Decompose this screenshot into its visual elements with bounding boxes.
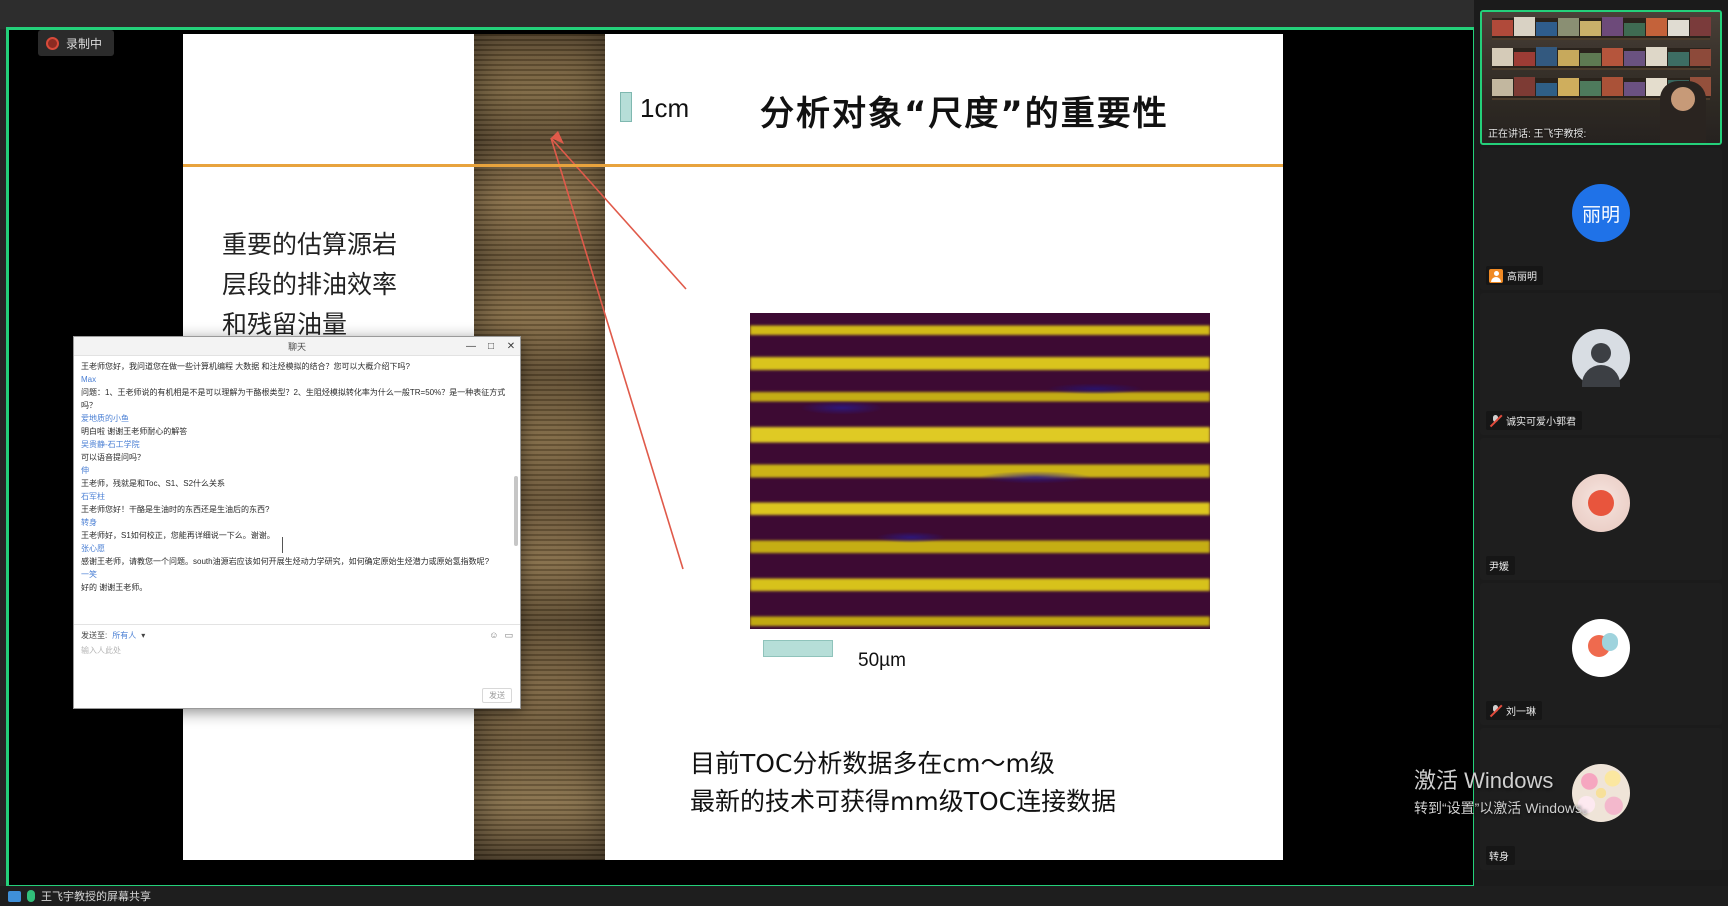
chat-message-sender: Max (81, 373, 513, 386)
participant-name: 转身 (1489, 848, 1509, 863)
send-to-dropdown[interactable]: 所有人 (112, 630, 136, 641)
chat-message-text: 可以语音提问吗？ (81, 451, 513, 464)
participant-name: 诚实可爱小郭君 (1506, 413, 1576, 428)
mic-muted-icon (1489, 414, 1502, 427)
status-bar-text: 王飞宇教授的屏幕共享 (41, 888, 151, 904)
avatar (1572, 474, 1630, 532)
participant-name-badge: 高丽明 (1486, 266, 1543, 285)
chat-message-sender: 石军柱 (81, 490, 513, 503)
slide-bottom-line-1: 目前TOC分析数据多在cm～m级 (690, 745, 1116, 783)
chat-message-text: 问题：1、王老师说的有机相是不是可以理解为干酪根类型？2、生阻烃模拟转化率为什么… (81, 386, 513, 412)
cm-scale-label: 1cm (640, 93, 689, 124)
presenter-figure (1660, 81, 1706, 143)
minimize-icon[interactable]: — (465, 341, 477, 353)
slide-left-line-1: 重要的估算源岩 (222, 225, 472, 265)
send-to-label: 发送至: (81, 630, 107, 641)
avatar (1572, 764, 1630, 822)
participant-name-badge: 尹媛 (1486, 556, 1515, 575)
chat-window[interactable]: 聊天 — □ ✕ 王老师您好，我问道您在做一些计算机编程 大数据 和注烃模拟的结… (73, 336, 521, 709)
participant-name: 刘一琳 (1506, 703, 1536, 718)
avatar (1572, 619, 1630, 677)
text-cursor (282, 537, 283, 553)
chat-message-list[interactable]: 王老师您好，我问道您在做一些计算机编程 大数据 和注烃模拟的结合？您可以大概介绍… (74, 356, 520, 624)
active-speaker-label: 正在讲话: 王飞宇教授: (1488, 125, 1586, 140)
recording-dot-icon (46, 37, 59, 50)
microscopy-image (750, 313, 1210, 629)
chat-message-sender: 一笑 (81, 568, 513, 581)
chat-window-controls[interactable]: — □ ✕ (465, 337, 517, 356)
chat-message-text: 明白啦 谢谢王老师耐心的解答 (81, 425, 513, 438)
participant-tile[interactable]: 诚实可爱小郭君 (1480, 293, 1722, 435)
active-speaker-tile[interactable]: 正在讲话: 王飞宇教授: (1480, 10, 1722, 145)
file-icon[interactable]: ▭ (504, 630, 513, 641)
chat-titlebar[interactable]: 聊天 — □ ✕ (74, 337, 520, 356)
chat-message-text: 好的 谢谢王老师。 (81, 581, 513, 594)
participant-tile[interactable]: 丽明 高丽明 (1480, 148, 1722, 290)
cm-scale-chip (620, 92, 632, 122)
chat-message-text: 感谢王老师，请教您一个问题。south油源岩应该如何开展生烃动力学研究，如何确定… (81, 555, 513, 568)
chat-message-sender: 转身 (81, 516, 513, 529)
chat-message-sender: 张心愿 (81, 542, 513, 555)
bookshelf-decor (1492, 48, 1711, 66)
status-bar: 王飞宇教授的屏幕共享 (0, 886, 1728, 906)
chat-message-sender: 爱地质的小鱼 (81, 412, 513, 425)
chat-scrollbar[interactable] (514, 476, 518, 546)
participant-tile[interactable]: 转身 (1480, 728, 1722, 870)
app-root: 1cm 分析对象“尺度”的重要性 重要的估算源岩 层段的排油效率 和残留油量 5… (0, 0, 1728, 906)
left-chrome-bar (0, 29, 8, 886)
slide-bottom-line-2: 最新的技术可获得mm级TOC连接数据 (690, 783, 1116, 821)
chat-message-text: 王老师好，S1如何校正，您能再详细说一下么。谢谢。 (81, 529, 513, 542)
chat-compose-area[interactable]: 发送至: 所有人 ▾ ☺ ▭ 输入人此处 发送 (74, 624, 520, 708)
chat-compose-icons[interactable]: ☺ ▭ (489, 630, 513, 641)
bookshelf-decor (1492, 18, 1711, 36)
recording-indicator: 录制中 (38, 30, 114, 56)
screen-share-icon (8, 891, 21, 902)
chat-message-sender: 吴贵静-石工学院 (81, 438, 513, 451)
participant-name-badge: 转身 (1486, 846, 1515, 865)
participant-name-badge: 诚实可爱小郭君 (1486, 411, 1582, 430)
slide-left-text: 重要的估算源岩 层段的排油效率 和残留油量 (222, 225, 472, 345)
chat-input[interactable]: 输入人此处 (81, 645, 513, 703)
top-chrome-bar (0, 0, 1474, 29)
slide-title: 分析对象“尺度”的重要性 (760, 86, 1169, 135)
recording-label: 录制中 (66, 35, 102, 52)
person-icon (1489, 269, 1503, 283)
participant-tile[interactable]: 刘一琳 (1480, 583, 1722, 725)
participant-name: 高丽明 (1507, 268, 1537, 283)
avatar: 丽明 (1572, 184, 1630, 242)
speaker-video (1482, 12, 1720, 143)
slide-orange-divider (183, 164, 1283, 167)
mic-icon (27, 890, 35, 902)
chevron-down-icon[interactable]: ▾ (141, 631, 145, 640)
chat-message-sender: 伸 (81, 464, 513, 477)
micron-scale-label: 50µm (858, 650, 906, 672)
participant-rail[interactable]: 正在讲话: 王飞宇教授: 丽明 高丽明 诚实可爱小郭君 尹媛 (1474, 0, 1728, 886)
participant-tile[interactable]: 尹媛 (1480, 438, 1722, 580)
slide-left-line-2: 层段的排油效率 (222, 265, 472, 305)
chat-send-button[interactable]: 发送 (482, 688, 512, 703)
slide-bottom-text: 目前TOC分析数据多在cm～m级 最新的技术可获得mm级TOC连接数据 (690, 745, 1116, 821)
emoji-icon[interactable]: ☺ (489, 630, 498, 641)
mic-muted-icon (1489, 704, 1502, 717)
maximize-icon[interactable]: □ (485, 341, 497, 353)
chat-message-text: 王老师您好！干酪是生油时的东西还是生油后的东西? (81, 503, 513, 516)
close-icon[interactable]: ✕ (505, 341, 517, 353)
micron-scale-bar (763, 640, 833, 657)
participant-name: 尹媛 (1489, 558, 1509, 573)
participant-name-badge: 刘一琳 (1486, 701, 1542, 720)
chat-send-to-row[interactable]: 发送至: 所有人 ▾ ☺ ▭ (81, 630, 513, 641)
chat-message-text: 王老师，残就是和Toc、S1、S2什么关系 (81, 477, 513, 490)
chat-title: 聊天 (74, 340, 520, 353)
chat-message-text: 王老师您好，我问道您在做一些计算机编程 大数据 和注烃模拟的结合？您可以大概介绍… (81, 360, 513, 373)
avatar (1572, 329, 1630, 387)
